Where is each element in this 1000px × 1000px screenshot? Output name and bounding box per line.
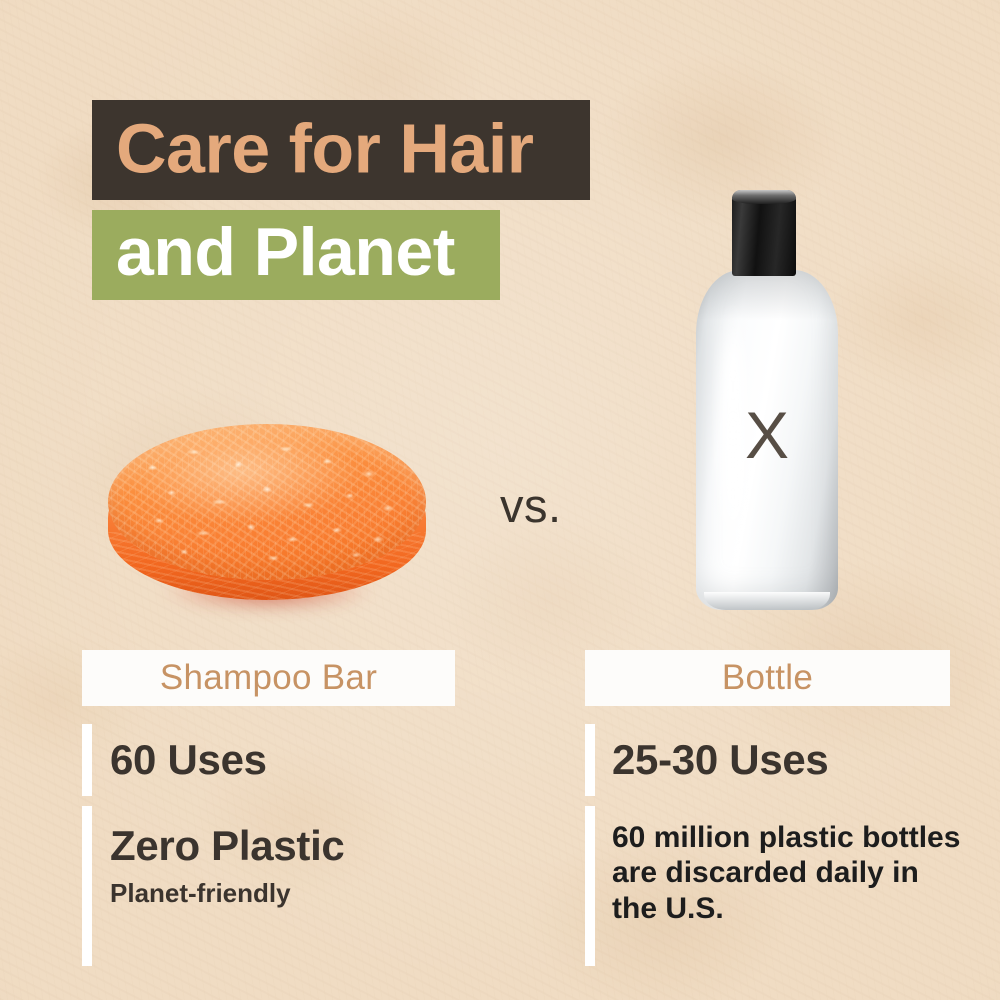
left-column-label-box: Shampoo Bar [82,650,455,706]
headline-line2-text: and Planet [116,213,455,291]
headline-line2-box: and Planet [92,210,500,300]
right-accent-bar-1 [585,724,595,796]
right-row-2-paragraph: 60 million plastic bottles are discarded… [612,820,964,926]
right-accent-bar-2 [585,806,595,966]
shampoo-bar-grain [108,424,426,580]
right-column-label-box: Bottle [585,650,950,706]
bottle-x-mark: X [696,402,838,468]
left-row-2-sub: Planet-friendly [110,878,291,909]
right-row-1-headline: 25-30 Uses [612,736,829,784]
versus-label: vs. [500,478,562,533]
left-accent-bar-2 [82,806,92,966]
left-column-label: Shampoo Bar [160,658,377,698]
bottle-shoulder-shading [696,270,838,340]
bottle-base [704,592,830,610]
shampoo-bottle-icon: X [690,190,850,630]
headline-line1-text: Care for Hair [116,108,534,188]
headline-line1-box: Care for Hair [92,100,590,200]
left-row-2-headline: Zero Plastic [110,822,345,870]
bottle-cap-top-highlight [732,190,796,204]
left-accent-bar-1 [82,724,92,796]
infographic-canvas: Care for Hair and Planet vs. X Shampoo B… [0,0,1000,1000]
shampoo-bar-icon [100,412,440,642]
left-row-1-headline: 60 Uses [110,736,267,784]
right-column-label: Bottle [722,658,813,698]
